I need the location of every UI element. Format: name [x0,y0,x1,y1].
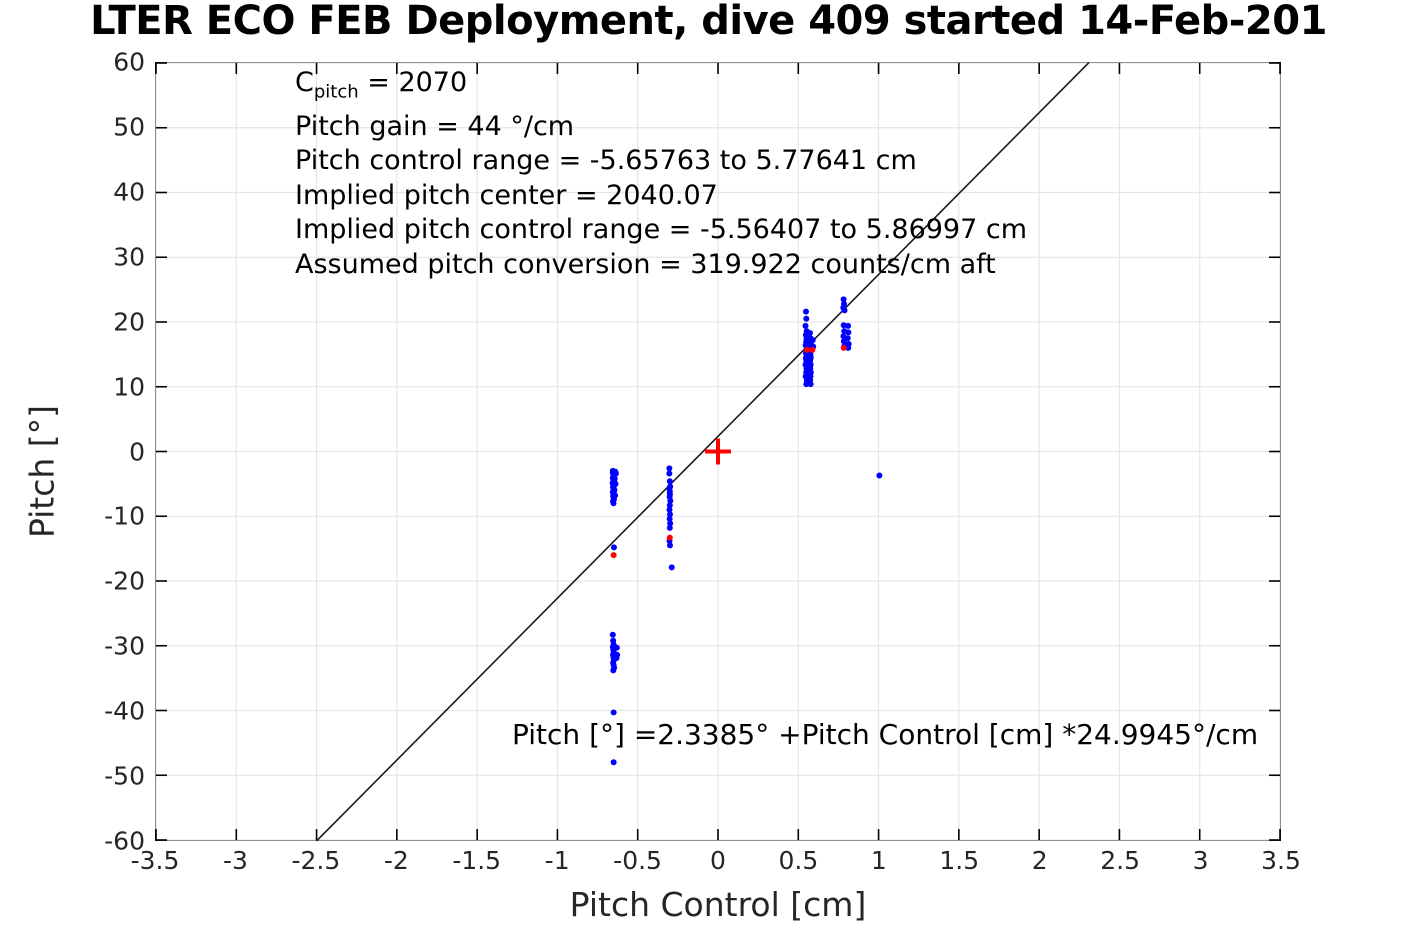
x-tick-label: 2 [995,846,1085,875]
y-tick-label: -50 [0,762,145,791]
x-axis-label: Pitch Control [cm] [155,885,1281,924]
c-pitch-value: = 2070 [359,67,468,98]
regression-equation-label: Pitch [°] =2.3385° +Pitch Control [cm] *… [512,718,1258,751]
x-tick-label: 0 [673,846,763,875]
annotation-line-5: Assumed pitch conversion = 319.922 count… [295,248,1027,283]
y-tick-label: 60 [0,48,145,77]
c-pitch-symbol: C [295,67,314,98]
annotation-line-1: Pitch gain = 44 °/cm [295,110,1027,145]
x-tick-label: -3.5 [110,846,200,875]
x-tick-label: -1.5 [432,846,522,875]
annotation-line-3: Implied pitch center = 2040.07 [295,179,1027,214]
x-tick-label: -0.5 [593,846,683,875]
x-tick-label: 3 [1156,846,1246,875]
annotation-line-c-pitch: Cpitch = 2070 [295,66,1027,110]
page-title: LTER ECO FEB Deployment, dive 409 starte… [90,0,1327,44]
x-tick-label: -2 [351,846,441,875]
c-pitch-subscript: pitch [314,81,359,102]
x-tick-label: 1.5 [914,846,1004,875]
x-tick-label: -2.5 [271,846,361,875]
annotation-line-2: Pitch control range = -5.65763 to 5.7764… [295,144,1027,179]
annotation-block: Cpitch = 2070 Pitch gain = 44 °/cm Pitch… [295,66,1027,282]
x-tick-label: -1 [512,846,602,875]
x-tick-label: 2.5 [1075,846,1165,875]
x-tick-label: -3 [190,846,280,875]
y-axis-label: Pitch [°] [23,222,62,722]
y-tick-label: 40 [0,177,145,206]
x-tick-label: 1 [834,846,924,875]
y-tick-label: 50 [0,112,145,141]
annotation-line-4: Implied pitch control range = -5.56407 t… [295,213,1027,248]
x-tick-label: 3.5 [1236,846,1326,875]
x-tick-label: 0.5 [753,846,843,875]
